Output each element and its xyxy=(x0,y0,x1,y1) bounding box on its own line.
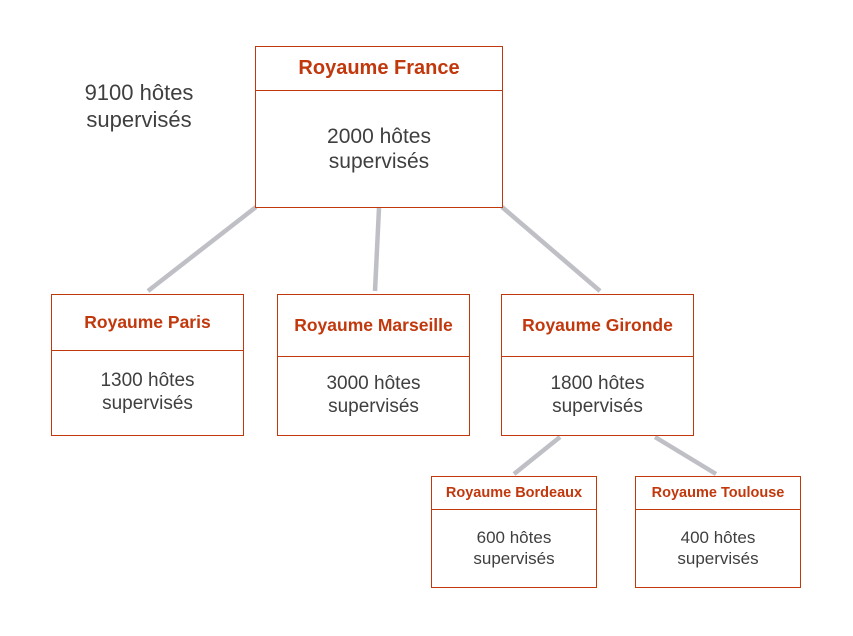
node-body-royaume-gironde: 1800 hôtes supervisés xyxy=(502,357,693,435)
node-body-royaume-bordeaux: 600 hôtes supervisés xyxy=(432,510,596,587)
node-royaume-paris[interactable]: Royaume Paris 1300 hôtes supervisés xyxy=(51,294,244,436)
edge-gironde-bordeaux xyxy=(514,437,560,474)
node-royaume-toulouse[interactable]: Royaume Toulouse 400 hôtes supervisés xyxy=(635,476,801,588)
node-royaume-france[interactable]: Royaume France 2000 hôtes supervisés xyxy=(255,46,503,208)
node-body-royaume-paris: 1300 hôtes supervisés xyxy=(52,351,243,435)
node-body-royaume-marseille: 3000 hôtes supervisés xyxy=(278,357,469,435)
total-hosts-annotation: 9100 hôtes supervisés xyxy=(44,80,234,134)
node-title-royaume-toulouse: Royaume Toulouse xyxy=(636,477,800,510)
node-title-royaume-marseille: Royaume Marseille xyxy=(278,295,469,357)
node-title-royaume-bordeaux: Royaume Bordeaux xyxy=(432,477,596,510)
diagram-canvas: 9100 hôtes supervisés Royaume France 200… xyxy=(0,0,853,636)
node-royaume-marseille[interactable]: Royaume Marseille 3000 hôtes supervisés xyxy=(277,294,470,436)
node-title-royaume-france: Royaume France xyxy=(256,47,502,91)
node-title-royaume-gironde: Royaume Gironde xyxy=(502,295,693,357)
edge-gironde-toulouse xyxy=(655,437,716,474)
node-body-royaume-toulouse: 400 hôtes supervisés xyxy=(636,510,800,587)
node-body-royaume-france: 2000 hôtes supervisés xyxy=(256,91,502,207)
node-royaume-bordeaux[interactable]: Royaume Bordeaux 600 hôtes supervisés xyxy=(431,476,597,588)
edge-france-marseille xyxy=(375,208,379,291)
node-title-royaume-paris: Royaume Paris xyxy=(52,295,243,351)
edge-france-gironde xyxy=(502,207,600,291)
node-royaume-gironde[interactable]: Royaume Gironde 1800 hôtes supervisés xyxy=(501,294,694,436)
edge-france-paris xyxy=(148,207,256,291)
